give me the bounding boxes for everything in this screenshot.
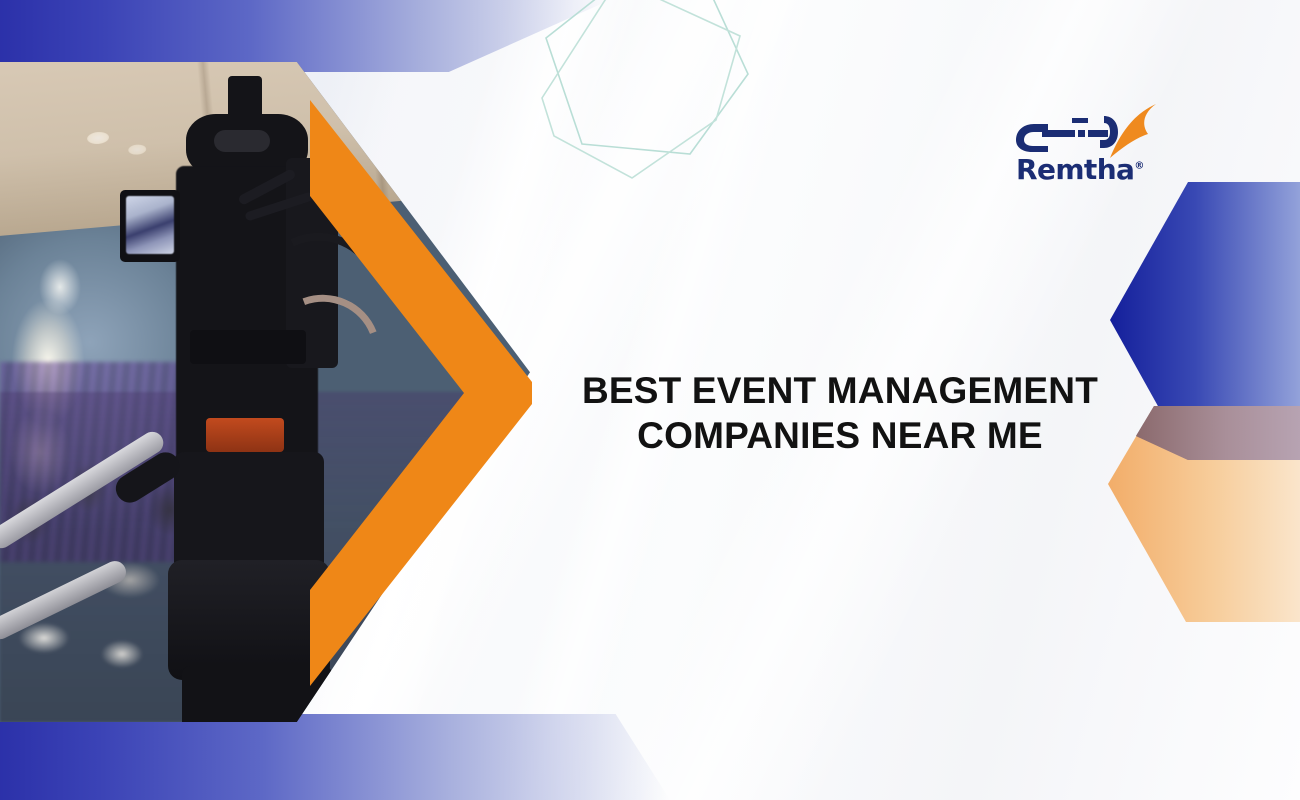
- page-title: BEST EVENT MANAGEMENT COMPANIES NEAR ME: [560, 368, 1120, 458]
- logo-wordmark: Remtha®: [1016, 156, 1144, 184]
- camera-lens-block: [174, 452, 324, 572]
- camera-eyecup: [214, 130, 270, 152]
- ceiling-light: [128, 144, 147, 156]
- page-title-line2: COMPANIES NEAR ME: [560, 413, 1120, 458]
- ceiling-light: [87, 131, 110, 145]
- camera-lcd-screen: [126, 196, 174, 254]
- logo-wordmark-text: Remtha: [1016, 153, 1134, 186]
- page-title-line1: BEST EVENT MANAGEMENT: [560, 368, 1120, 413]
- logo-arabic-text: [1012, 110, 1124, 156]
- camera-orange-marker: [206, 418, 284, 452]
- logo-trademark: ®: [1134, 161, 1143, 172]
- camera-pedestal-head: [168, 560, 330, 680]
- remtha-logo[interactable]: Remtha®: [1012, 104, 1152, 196]
- event-banner: Remtha® BEST EVENT MANAGEMENT COMPANIES …: [0, 0, 1300, 800]
